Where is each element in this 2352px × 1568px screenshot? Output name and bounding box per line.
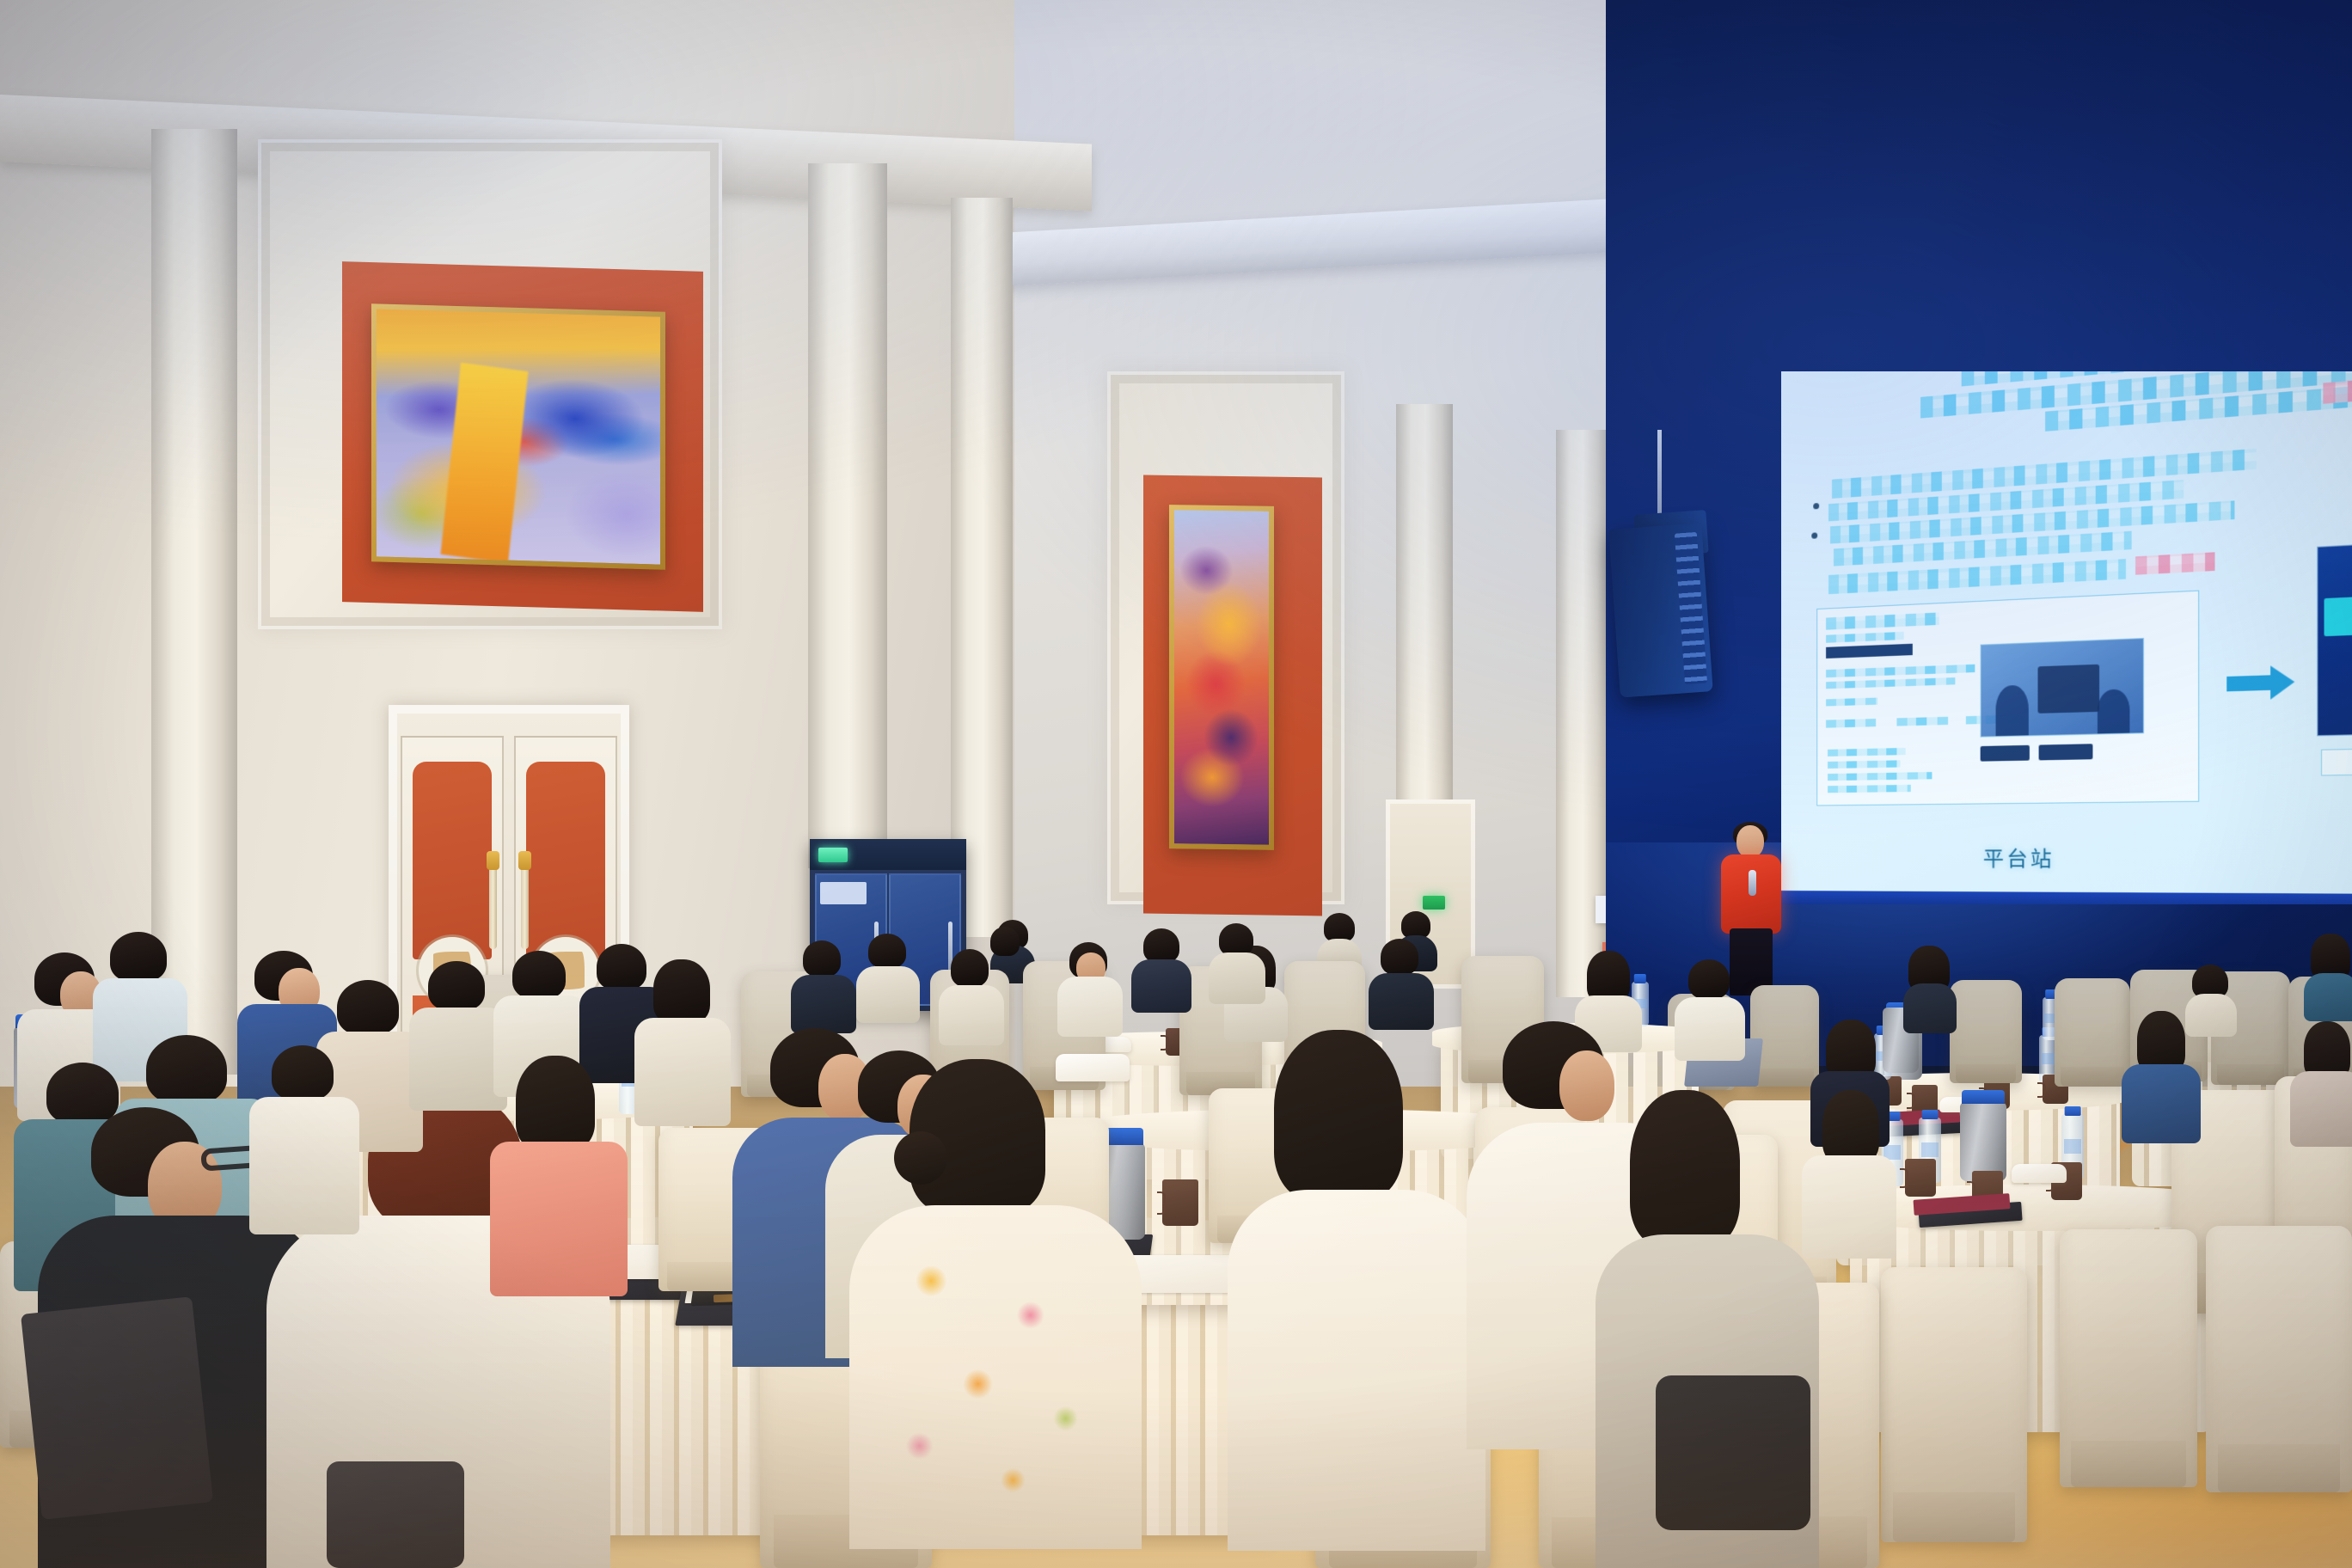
slide-footer-bar — [1781, 891, 2352, 904]
person-body — [1903, 983, 1957, 1033]
person-body — [849, 1205, 1142, 1549]
person-body — [1802, 1155, 1896, 1259]
photo-silhouette — [1996, 685, 2029, 737]
cabinet-display — [818, 848, 848, 862]
wall-pilaster — [951, 198, 1013, 937]
person-body — [1228, 1190, 1485, 1551]
card-body-redacted — [1826, 698, 1877, 707]
folded-napkin — [2012, 1164, 2067, 1183]
photo-monitor — [2038, 665, 2100, 714]
banquet-chair — [2055, 978, 2130, 1087]
card-list-redacted — [1828, 785, 1911, 793]
abstract-landscape-painting — [371, 303, 665, 570]
person-hair — [337, 980, 399, 1035]
projection-screen: 平台站 — [1781, 371, 2352, 904]
card-stat-redacted — [1896, 717, 1948, 726]
door-handle[interactable] — [489, 867, 497, 949]
handbag — [1656, 1375, 1810, 1530]
person-hair — [272, 1045, 334, 1100]
person-hair — [110, 932, 167, 982]
person-body — [1675, 997, 1745, 1061]
person-hair — [1324, 913, 1355, 942]
person-body — [2185, 994, 2237, 1037]
person-hair — [1219, 923, 1253, 956]
person-hair — [1381, 939, 1418, 975]
door-handle[interactable] — [521, 867, 529, 949]
cabinet-header — [810, 839, 966, 870]
person-hair — [597, 944, 646, 990]
person-hair — [1587, 951, 1630, 1002]
wall-pilaster — [808, 163, 887, 868]
arrow-head — [2270, 665, 2294, 699]
mobile-app-mockup — [2317, 539, 2352, 736]
banquet-chair — [2060, 1229, 2197, 1487]
slide-subheading-highlight-redacted — [2135, 552, 2214, 574]
slide-right-arrow — [2226, 665, 2296, 701]
slide-card-button[interactable] — [1981, 745, 2030, 762]
person-body — [1057, 977, 1123, 1037]
card-list-redacted — [1828, 772, 1932, 781]
mock-badge — [2324, 597, 2352, 636]
abstract-vertical-painting — [1169, 505, 1274, 850]
backpack — [21, 1296, 213, 1520]
person-hair — [516, 1056, 595, 1150]
person-body — [490, 1142, 628, 1296]
card-stat-redacted — [1826, 719, 1876, 728]
slide-photo — [1981, 638, 2144, 738]
tea-cup — [1162, 1179, 1198, 1226]
person-body — [939, 985, 1004, 1045]
tea-cup — [1905, 1159, 1936, 1197]
folded-napkin — [1056, 1054, 1130, 1081]
person-hair — [868, 934, 906, 968]
person-hair — [428, 961, 485, 1011]
person-body — [791, 975, 856, 1033]
person-body — [1209, 952, 1265, 1004]
person-body — [856, 966, 920, 1023]
conference-hall-photo: 平台站 — [0, 0, 2352, 1568]
thermal-carafe — [1960, 1102, 2006, 1181]
person-hair — [1630, 1090, 1740, 1246]
emergency-exit-sign — [1423, 896, 1445, 910]
hair-bun — [894, 1131, 947, 1185]
microphone — [1749, 870, 1756, 896]
banquet-chair — [2206, 1226, 2352, 1492]
person-body — [2122, 1064, 2201, 1143]
person-hair — [990, 927, 1020, 956]
card-body-redacted — [1826, 665, 1975, 677]
person-hair — [951, 949, 989, 987]
slide-subheading-redacted — [1828, 559, 2126, 594]
handbag — [327, 1461, 464, 1568]
carafe-lid — [1962, 1090, 2005, 1104]
card-meta-redacted — [1826, 632, 1904, 643]
person-head — [1559, 1050, 1614, 1121]
photo-silhouette — [2098, 689, 2129, 733]
person-hair — [803, 940, 841, 977]
mock-caption-bar — [2321, 747, 2352, 776]
projection-slide: 平台站 — [1781, 371, 2352, 904]
person-body — [409, 1008, 507, 1111]
banquet-chair — [1881, 1267, 2027, 1542]
person-hair — [512, 951, 566, 999]
line-array-speaker — [1608, 523, 1712, 697]
slide-product-card — [1816, 591, 2199, 806]
person-body — [1131, 959, 1191, 1013]
slide-caption: 平台站 — [1983, 842, 2055, 873]
card-list-redacted — [1828, 748, 1906, 756]
card-tag — [1826, 644, 1913, 658]
person-hair — [653, 959, 710, 1023]
door-upper-panel — [526, 762, 605, 959]
person-hair — [46, 1063, 119, 1124]
person-body — [2304, 973, 2352, 1021]
person-body — [249, 1097, 359, 1234]
person-body — [634, 1018, 731, 1126]
card-list-redacted — [1828, 760, 1900, 769]
card-body-redacted — [1826, 677, 1955, 689]
person-hair — [1274, 1030, 1403, 1200]
slide-card-button[interactable] — [2039, 744, 2093, 760]
arrow-shaft — [2226, 675, 2272, 691]
cabinet-label — [820, 882, 867, 904]
banquet-chair — [1950, 980, 2022, 1083]
slide-bullet-marker — [1811, 532, 1817, 538]
person-hair — [1688, 959, 1730, 999]
presenter-head — [1736, 825, 1764, 858]
slide-bullet-marker — [1813, 503, 1819, 510]
banquet-chair — [1750, 985, 1819, 1087]
wall-pilaster — [151, 129, 237, 1075]
person-body — [1369, 973, 1434, 1030]
person-hair — [1822, 1090, 1879, 1164]
person-hair — [146, 1035, 227, 1104]
door-upper-panel — [413, 762, 492, 959]
card-title-redacted — [1826, 612, 1939, 629]
person-body — [2290, 1071, 2352, 1147]
person-hair — [1143, 928, 1179, 963]
